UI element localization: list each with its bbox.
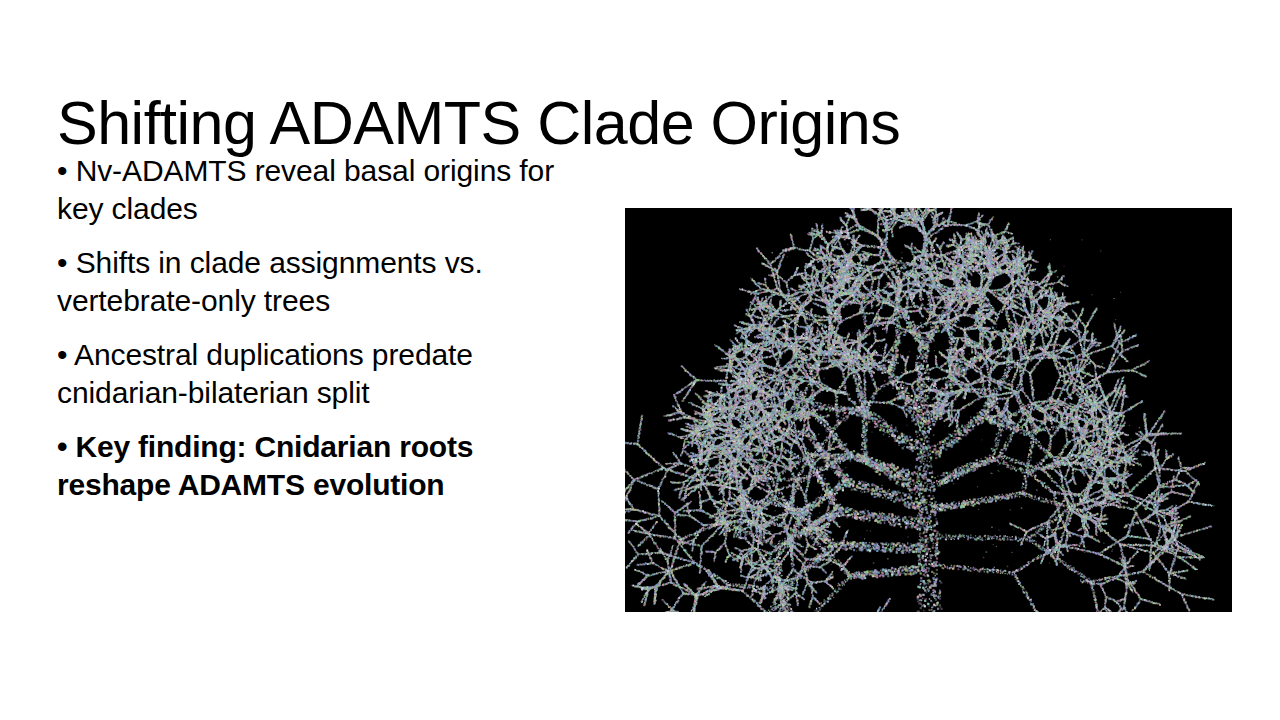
list-item: • Ancestral duplications predate cnidari… — [57, 336, 572, 412]
bullet-list: • Nv-ADAMTS reveal basal origins for key… — [57, 152, 572, 504]
slide-canvas: Shifting ADAMTS Clade Origins • Nv-ADAMT… — [0, 0, 1280, 720]
page-title: Shifting ADAMTS Clade Origins — [57, 91, 1217, 156]
list-item: • Shifts in clade assignments vs. verteb… — [57, 244, 572, 320]
tree-point-cloud-image — [625, 208, 1232, 612]
list-item-key-finding: • Key finding: Cnidarian roots reshape A… — [57, 428, 572, 504]
list-item: • Nv-ADAMTS reveal basal origins for key… — [57, 152, 572, 228]
tree-illustration — [625, 208, 1232, 612]
